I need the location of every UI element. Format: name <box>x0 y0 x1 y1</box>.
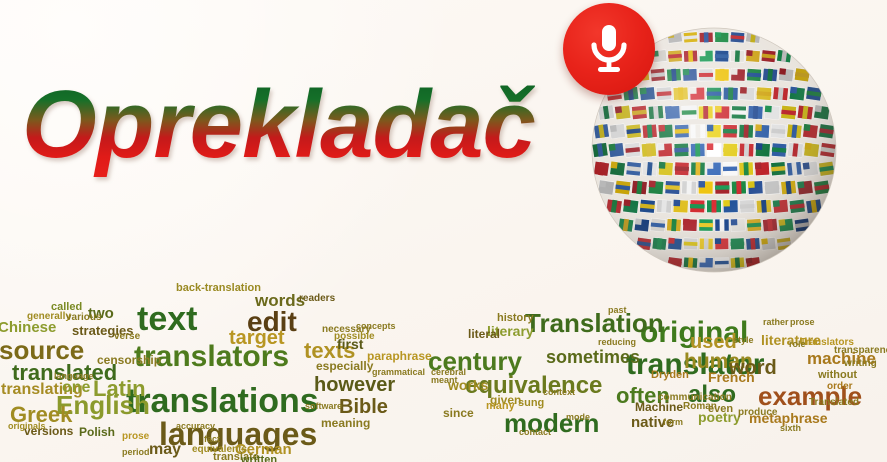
cloud-word: mode <box>566 413 590 422</box>
cloud-word: past <box>608 306 627 315</box>
cloud-word: many <box>486 401 515 412</box>
cloud-word: translations <box>126 384 319 418</box>
cloud-word: Latin <box>93 378 146 400</box>
oprekladac-banner: Oprekladač translatio <box>0 0 887 462</box>
cloud-word: reducing <box>598 338 636 347</box>
cloud-word: may <box>149 442 181 458</box>
right-word-cloud: translatororiginalTranslationcenturyequi… <box>418 288 887 448</box>
cloud-word: concepts <box>356 322 396 331</box>
cloud-word: context <box>543 388 575 397</box>
cloud-word: accuracy <box>176 422 215 431</box>
cloud-word: period <box>122 448 150 457</box>
cloud-word: generally <box>27 312 71 322</box>
microphone-badge[interactable] <box>563 3 655 95</box>
cloud-word: style <box>733 336 754 345</box>
cloud-word: language <box>54 372 94 381</box>
cloud-word: Bible <box>339 397 388 417</box>
cloud-word: Translation <box>525 310 664 336</box>
cloud-word: especially <box>316 360 373 372</box>
cloud-word: sixth <box>780 424 801 433</box>
cloud-word: even <box>708 404 733 415</box>
cloud-word: Chinese <box>0 320 56 335</box>
cloud-word: sung <box>518 398 544 409</box>
left-word-cloud: translationstranslatorslanguagestextedit… <box>0 280 464 462</box>
cloud-word: role <box>789 340 806 349</box>
cloud-word: French <box>708 370 755 384</box>
cloud-word: fact <box>204 435 220 444</box>
cloud-word: meant <box>431 376 458 385</box>
cloud-word: target <box>229 328 285 348</box>
microphone-icon <box>586 23 632 75</box>
cloud-word: various <box>66 313 102 323</box>
cloud-word: verse <box>114 332 140 342</box>
cloud-word: text <box>137 302 197 336</box>
cloud-word: possible <box>334 332 375 342</box>
cloud-word: Polish <box>79 426 115 438</box>
cloud-word: without <box>818 370 857 381</box>
cloud-word: order <box>827 382 853 392</box>
cloud-word: prose <box>790 318 815 327</box>
cloud-word: literal <box>468 328 500 340</box>
cloud-word: readers <box>299 294 335 304</box>
cloud-word: writing <box>844 359 877 369</box>
cloud-word: originals <box>8 422 46 431</box>
cloud-word: software <box>305 402 342 411</box>
cloud-word: equivalents <box>192 445 247 455</box>
cloud-word: meaning <box>321 417 370 429</box>
cloud-word: back-translation <box>176 283 261 294</box>
cloud-word: Dryden <box>651 370 689 381</box>
page-title: Oprekladač <box>22 72 542 182</box>
cloud-word: words <box>255 292 305 309</box>
cloud-word: prose <box>122 432 149 442</box>
cloud-word: written <box>241 455 277 462</box>
cloud-word: contact <box>519 428 551 437</box>
cloud-word: used <box>690 332 737 352</box>
cloud-word: however <box>314 375 395 395</box>
cloud-word: one <box>62 380 90 396</box>
cloud-word: Translated <box>809 398 859 408</box>
cloud-word: since <box>443 407 474 419</box>
cloud-word: rather <box>763 318 789 327</box>
cloud-word: history <box>497 313 534 324</box>
app-title-text: Oprekladač <box>22 72 542 178</box>
cloud-word: censorship <box>97 354 161 366</box>
cloud-word: form <box>663 418 683 427</box>
cloud-word: Translators <box>800 338 854 348</box>
cloud-word: sometimes <box>546 348 640 366</box>
cloud-word: produce <box>738 408 777 418</box>
